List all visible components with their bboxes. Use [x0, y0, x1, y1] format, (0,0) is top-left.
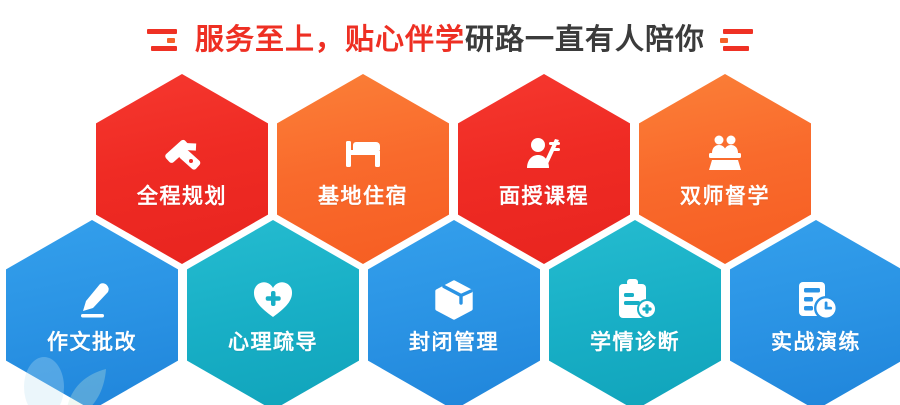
- hex-tile-label: 面授课程: [499, 185, 589, 209]
- hex-tile-label: 实战演练: [771, 331, 861, 355]
- hex-tile-label: 双师督学: [680, 185, 770, 209]
- hex-tile-shuang-shi-du-xue[interactable]: 双师督学: [639, 74, 811, 264]
- heart-plus-icon: [248, 275, 298, 325]
- clipboard-plus-icon: [610, 275, 660, 325]
- hexagon-grid: 全程规划 基地住宿: [0, 0, 900, 405]
- hex-tile-label: 基地住宿: [318, 185, 408, 209]
- hex-tile-xin-li-shu-dao[interactable]: 心理疏导: [187, 220, 359, 405]
- hex-tile-label: 学情诊断: [590, 331, 680, 355]
- hex-tile-label: 全程规划: [137, 185, 227, 209]
- hex-tile-quan-cheng-gui-hua[interactable]: 全程规划: [96, 74, 268, 264]
- bed-icon: [338, 129, 388, 179]
- hex-tile-feng-bi-guan-li[interactable]: 封闭管理: [368, 220, 540, 405]
- box-package-icon: [429, 275, 479, 325]
- hex-tile-ji-di-zhu-su[interactable]: 基地住宿: [277, 74, 449, 264]
- hex-tile-label: 心理疏导: [228, 331, 318, 355]
- hex-tile-zuo-wen-pi-gai[interactable]: 作文批改: [6, 220, 178, 405]
- pencil-ruler-icon: [157, 129, 207, 179]
- hex-tile-xue-qing-zhen-duan[interactable]: 学情诊断: [549, 220, 721, 405]
- pen-correction-icon: [67, 275, 117, 325]
- document-clock-icon: [791, 275, 841, 325]
- two-people-podium-icon: [700, 129, 750, 179]
- hex-tile-label: 作文批改: [47, 331, 137, 355]
- teacher-pointer-icon: [519, 129, 569, 179]
- service-feature-banner: 服务至上，贴心伴学研路一直有人陪你 全程规划: [0, 0, 900, 405]
- hex-tile-mian-shou-ke-cheng[interactable]: 面授课程: [458, 74, 630, 264]
- hex-tile-label: 封闭管理: [409, 331, 499, 355]
- hex-tile-shi-zhan-yan-lian[interactable]: 实战演练: [730, 220, 900, 405]
